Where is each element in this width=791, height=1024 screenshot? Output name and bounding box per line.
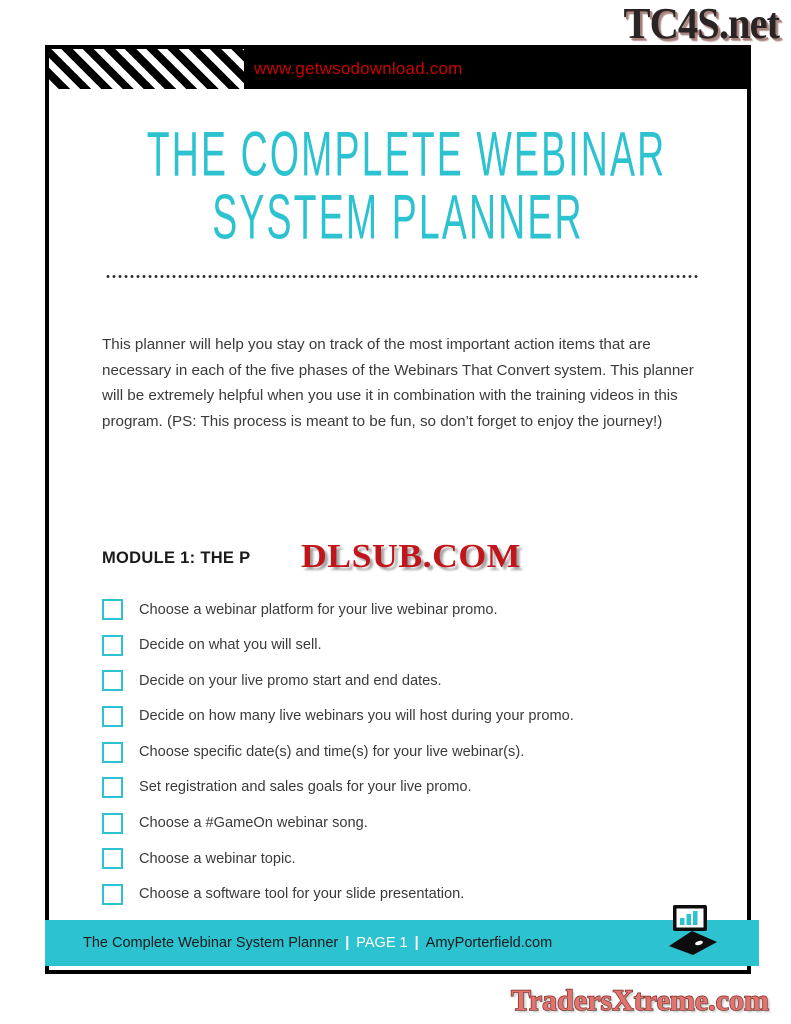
- list-item[interactable]: Set registration and sales goals for you…: [102, 770, 712, 806]
- module-heading: MODULE 1: THE P: [102, 549, 250, 568]
- list-item-label: Decide on your live promo start and end …: [139, 674, 442, 689]
- title-line-2: SYSTEM PLANNER: [147, 180, 650, 257]
- checkbox[interactable]: [102, 670, 123, 691]
- footer-page-number: PAGE 1: [356, 935, 407, 951]
- list-item[interactable]: Choose a #GameOn webinar song.: [102, 806, 712, 842]
- header-url-watermark: www.getwsodownload.com: [254, 59, 463, 79]
- list-item[interactable]: Decide on your live promo start and end …: [102, 663, 712, 699]
- list-item[interactable]: Choose a software tool for your slide pr…: [102, 877, 712, 913]
- intro-paragraph: This planner will help you stay on track…: [102, 332, 706, 434]
- list-item-label: Choose specific date(s) and time(s) for …: [139, 745, 524, 760]
- checkbox[interactable]: [102, 635, 123, 656]
- list-item-label: Choose a webinar topic.: [139, 852, 296, 867]
- checkbox[interactable]: [102, 742, 123, 763]
- list-item-label: Choose a #GameOn webinar song.: [139, 816, 368, 831]
- footer-website: AmyPorterfield.com: [426, 935, 553, 951]
- checkbox[interactable]: [102, 813, 123, 834]
- list-item-label: Decide on what you will sell.: [139, 638, 322, 653]
- checkbox[interactable]: [102, 706, 123, 727]
- checkbox[interactable]: [102, 848, 123, 869]
- dlsub-watermark: DLSUB.COM: [301, 538, 521, 576]
- laptop-chart-icon: [661, 901, 723, 963]
- checkbox[interactable]: [102, 777, 123, 798]
- dotted-divider: [105, 275, 699, 278]
- list-item[interactable]: Choose a webinar platform for your live …: [102, 592, 712, 628]
- footer-doc-name: The Complete Webinar System Planner: [83, 935, 338, 951]
- document-page: www.getwsodownload.com THE COMPLETE WEBI…: [45, 45, 751, 974]
- footer-bar: The Complete Webinar System Planner | PA…: [45, 920, 759, 966]
- tc4s-watermark: TC4S.net: [623, 0, 779, 49]
- list-item-label: Choose a software tool for your slide pr…: [139, 887, 464, 902]
- header-band: www.getwsodownload.com: [49, 49, 747, 89]
- list-item-label: Set registration and sales goals for you…: [139, 780, 472, 795]
- list-item[interactable]: Decide on what you will sell.: [102, 628, 712, 664]
- page-title: THE COMPLETE WEBINAR SYSTEM PLANNER: [49, 124, 747, 251]
- checklist: Choose a webinar platform for your live …: [102, 592, 712, 948]
- tradersxtreme-watermark: TradersXtreme.com: [511, 984, 769, 1018]
- list-item[interactable]: Choose specific date(s) and time(s) for …: [102, 734, 712, 770]
- list-item[interactable]: Choose a webinar topic.: [102, 841, 712, 877]
- list-item-label: Choose a webinar platform for your live …: [139, 603, 498, 618]
- list-item-label: Decide on how many live webinars you wil…: [139, 709, 574, 724]
- list-item[interactable]: Decide on how many live webinars you wil…: [102, 699, 712, 735]
- checkbox[interactable]: [102, 599, 123, 620]
- footer-separator-1: |: [345, 935, 349, 951]
- footer-separator-2: |: [415, 935, 419, 951]
- diagonal-stripes-pattern: [49, 49, 244, 89]
- checkbox[interactable]: [102, 884, 123, 905]
- footer-text: The Complete Webinar System Planner | PA…: [83, 935, 552, 951]
